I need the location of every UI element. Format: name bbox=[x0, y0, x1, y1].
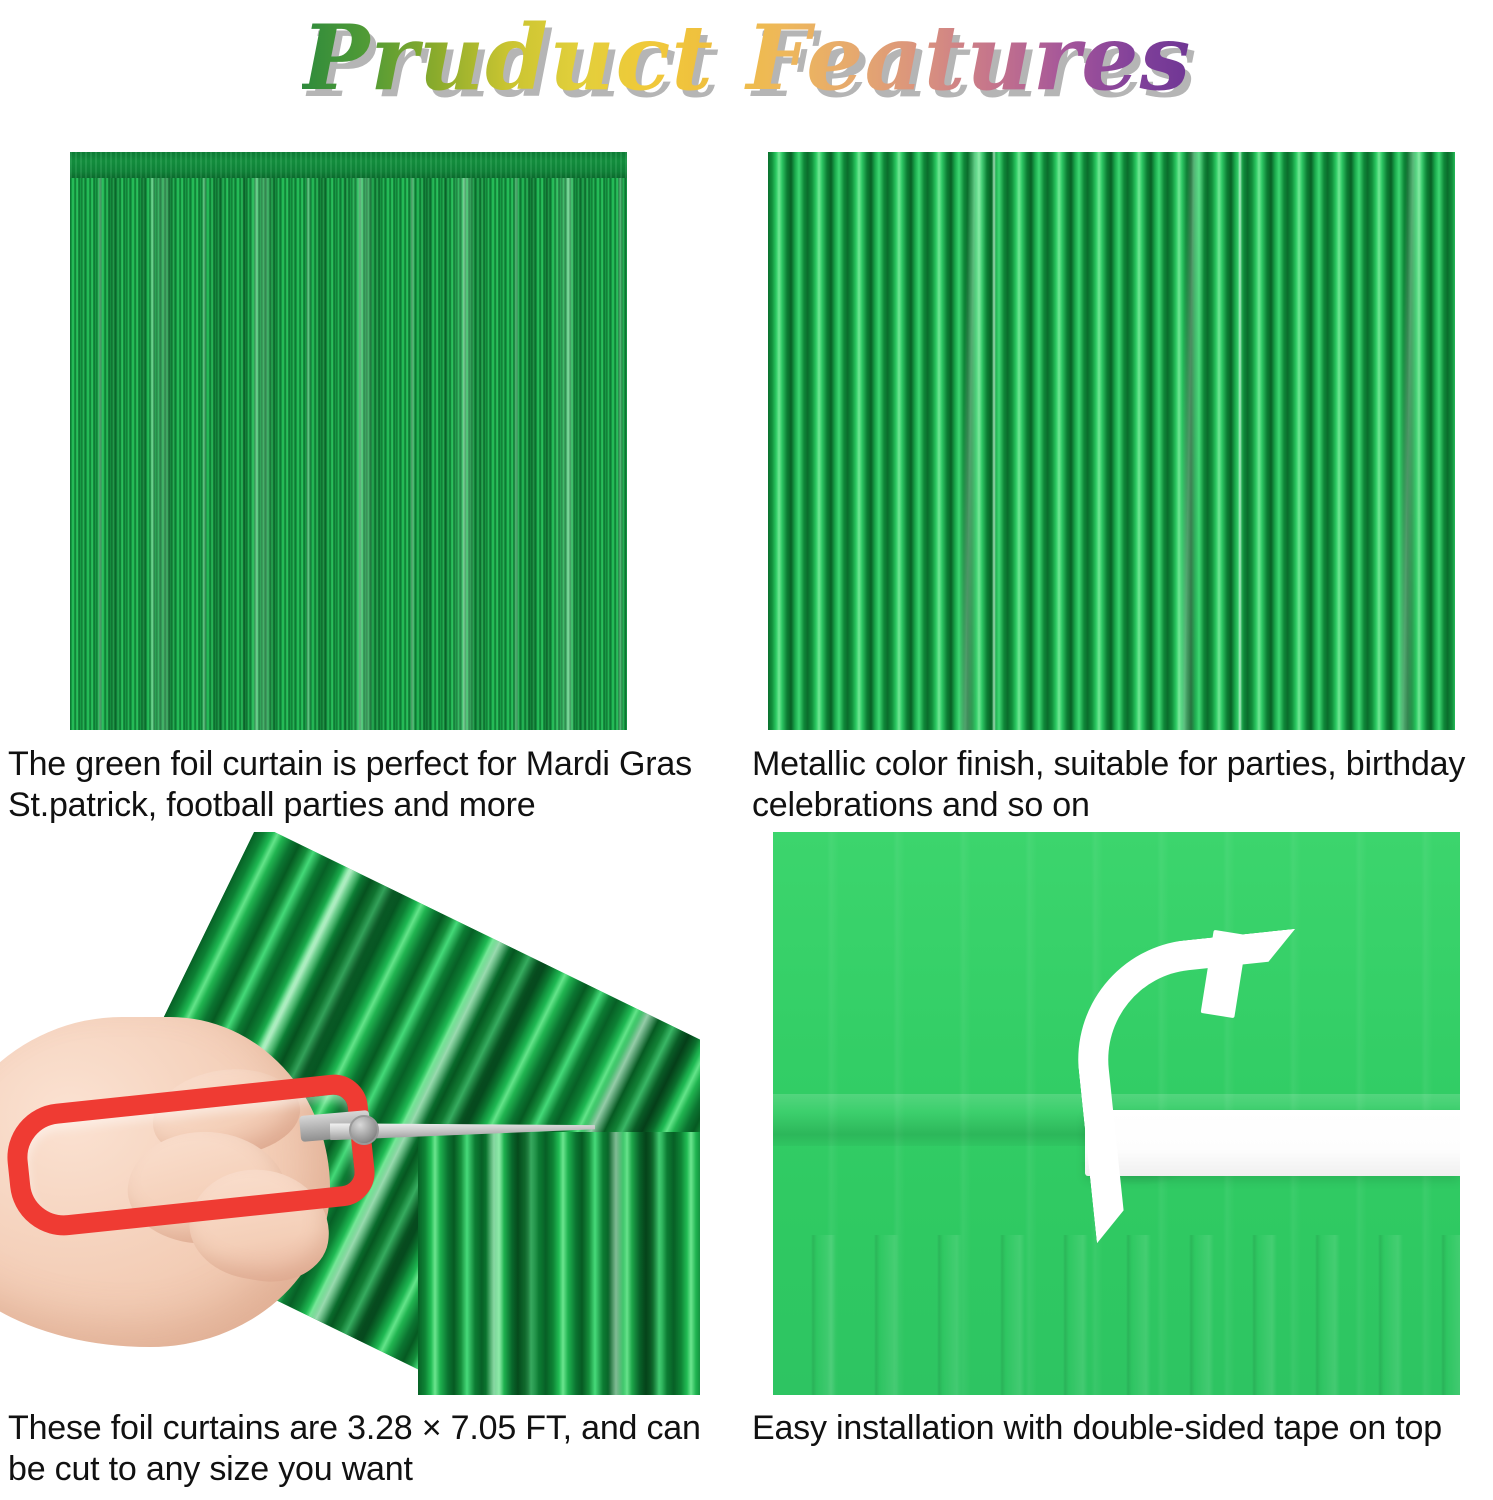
scissors-pivot-screw bbox=[349, 1115, 379, 1145]
feature-image-metallic-finish bbox=[768, 152, 1455, 730]
hanging-foil-strips bbox=[418, 1132, 700, 1395]
page-title: Pruduct Features Pruduct Features bbox=[302, 8, 1192, 108]
metallic-foil-strands bbox=[768, 152, 1455, 730]
page-title-text: Pruduct Features bbox=[302, 5, 1192, 111]
feature-image-easy-installation bbox=[773, 832, 1460, 1395]
feature-image-foil-curtain-fringe bbox=[70, 152, 627, 730]
feature-image-cut-to-size bbox=[0, 832, 700, 1395]
curtain-top-band-icon bbox=[70, 152, 627, 178]
page-header: Pruduct Features Pruduct Features bbox=[0, 8, 1493, 112]
curtain-seam-left bbox=[992, 152, 996, 730]
curtain-seam-right bbox=[1238, 152, 1242, 730]
feature-caption-foil-curtain-fringe: The green foil curtain is perfect for Ma… bbox=[8, 744, 738, 826]
foil-fringe-cuts bbox=[773, 1235, 1460, 1395]
foil-fringe-strands bbox=[70, 178, 627, 730]
feature-caption-cut-to-size: These foil curtains are 3.28 × 7.05 FT, … bbox=[8, 1408, 738, 1490]
feature-caption-metallic-finish: Metallic color finish, suitable for part… bbox=[752, 744, 1493, 826]
feature-caption-easy-installation: Easy installation with double-sided tape… bbox=[752, 1408, 1493, 1449]
